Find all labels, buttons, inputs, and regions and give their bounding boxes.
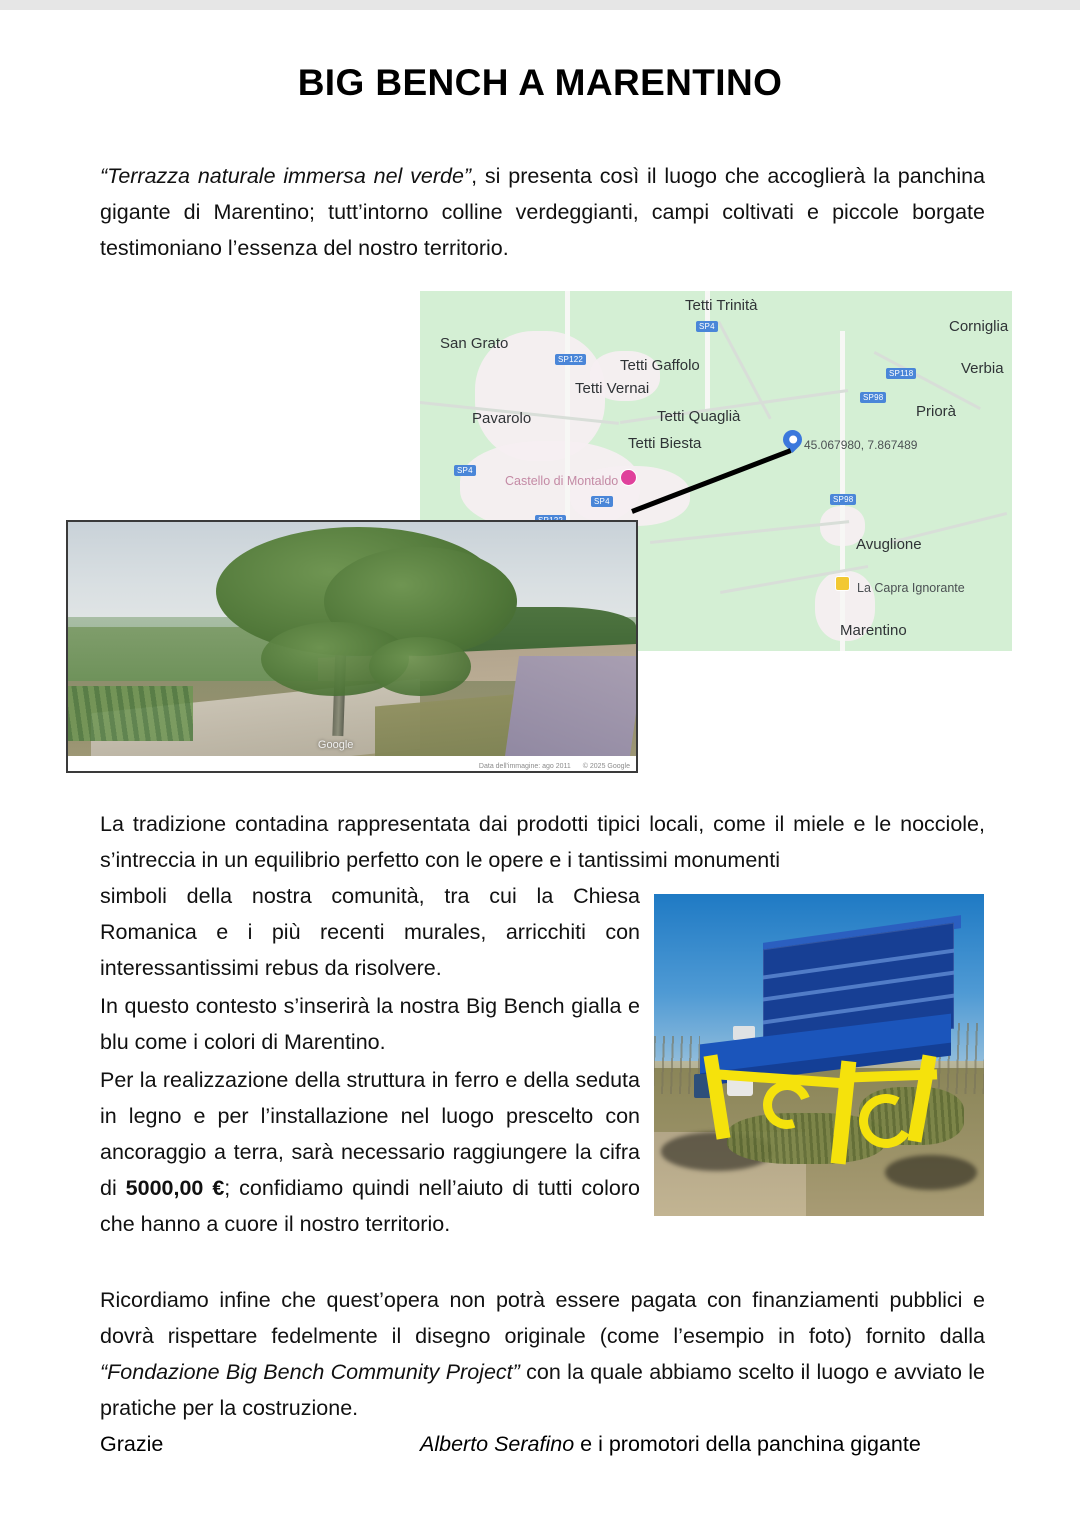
- castle-poi-icon: [620, 469, 637, 486]
- sv-dirt-path: [503, 656, 638, 771]
- ricordiamo-pre: Ricordiamo infine che quest’opera non po…: [100, 1288, 985, 1348]
- map-label: Tetti Vernai: [575, 380, 649, 397]
- google-watermark: Google: [318, 739, 353, 751]
- paragraph-ricordiamo: Ricordiamo infine che quest’opera non po…: [100, 1282, 985, 1426]
- paragraph-simboli: simboli della nostra comunità, tra cui l…: [100, 878, 640, 986]
- paragraph-contesto: In questo contesto s’inserirà la nostra …: [100, 988, 640, 1060]
- map-label: Tetti Biesta: [628, 435, 701, 452]
- map-label: Verbia: [961, 360, 1004, 377]
- map-label-poi: La Capra Ignorante: [857, 581, 965, 595]
- document-page: BIG BENCH A MARENTINO “Terrazza naturale…: [0, 10, 1080, 1528]
- road-badge: SP122: [555, 354, 586, 365]
- road-badge: SP4: [696, 321, 718, 332]
- map-road: [650, 520, 849, 544]
- map-road: [840, 331, 845, 651]
- big-bench-photo[interactable]: [654, 894, 984, 1216]
- paragraph-intro: “Terrazza naturale immersa nel verde”, s…: [100, 158, 985, 266]
- map-label: Avuglione: [856, 536, 922, 553]
- map-label-castello: Castello di Montaldo: [505, 474, 618, 488]
- top-gray-strip: [0, 0, 1080, 10]
- restaurant-poi-icon: [835, 576, 850, 591]
- author-name: Alberto Serafino: [420, 1432, 574, 1456]
- sv-attribution-text: Data dell'immagine: ago 2011© 2025 Googl…: [467, 763, 630, 770]
- pin-coordinates: 45.067980, 7.867489: [804, 438, 917, 452]
- road-badge: SP118: [886, 368, 916, 379]
- signature-row: Grazie Alberto Serafino e i promotori de…: [100, 1428, 985, 1460]
- road-badge: SP4: [591, 496, 613, 507]
- road-badge: SP4: [454, 465, 476, 476]
- street-view-photo[interactable]: Google Data dell'immagine: ago 2011© 202…: [66, 520, 638, 773]
- road-badge: SP98: [860, 392, 886, 403]
- page-title: BIG BENCH A MARENTINO: [0, 62, 1080, 104]
- paragraph-tradizione: La tradizione contadina rappresentata da…: [100, 806, 985, 878]
- sv-attribution-bar: Data dell'immagine: ago 2011© 2025 Googl…: [68, 756, 636, 771]
- map-label: Tetti Trinità: [685, 297, 758, 314]
- thanks-text: Grazie: [100, 1428, 420, 1460]
- map-label: Tetti Quaglià: [657, 408, 740, 425]
- intro-quote: “Terrazza naturale immersa nel verde”: [100, 164, 471, 188]
- map-label: San Grato: [440, 335, 508, 352]
- map-label: Marentino: [840, 622, 907, 639]
- funding-amount: 5000,00 €: [126, 1176, 225, 1200]
- map-label: Priorà: [916, 403, 956, 420]
- map-label: Corniglia: [949, 318, 1008, 335]
- sv-attribution-copyright: © 2025 Google: [583, 763, 630, 770]
- signature-name: Alberto Serafino e i promotori della pan…: [420, 1428, 985, 1460]
- map-label: Pavarolo: [472, 410, 531, 427]
- map-label: Tetti Gaffolo: [620, 357, 700, 374]
- paragraph-realizzazione: Per la realizzazione della struttura in …: [100, 1062, 640, 1242]
- sv-tree-canopy: [369, 637, 471, 697]
- author-suffix: e i promotori della panchina gigante: [574, 1432, 921, 1456]
- road-badge: SP98: [830, 494, 856, 505]
- sv-vineyard: [68, 686, 193, 741]
- foundation-name: “Fondazione Big Bench Community Project”: [100, 1360, 520, 1384]
- sv-attribution-date: Data dell'immagine: ago 2011: [479, 763, 571, 770]
